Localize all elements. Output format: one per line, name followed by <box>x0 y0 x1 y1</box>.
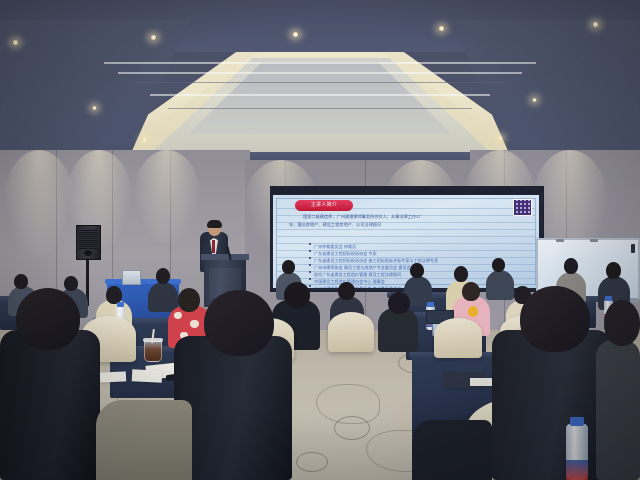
cove-line-3 <box>134 82 506 83</box>
whiteboard-clip <box>556 239 564 242</box>
water-bottle-foreground[interactable] <box>566 424 588 480</box>
duck-graphic <box>468 306 478 317</box>
attendee-head <box>64 276 78 291</box>
attendee-head <box>410 263 424 278</box>
attendee-head <box>14 274 28 289</box>
bullet-dot-icon <box>309 285 311 287</box>
bottle-cap <box>605 296 612 301</box>
downlight <box>438 26 445 31</box>
slide-paragraph-line-1: 国家二级建造师，广州建通律师事务所合伙人，从事法律工作17 <box>303 214 525 220</box>
attendee-legs-foreground <box>96 400 192 480</box>
downlight <box>498 136 503 140</box>
attendee-torso-foreground <box>596 340 640 480</box>
bullet-label: 广州市律师协会人民调解委员会 专业委员会会员 <box>314 286 401 288</box>
coffee-cup[interactable] <box>144 340 162 362</box>
carpet-swirl <box>334 416 370 440</box>
podium-top <box>201 254 249 260</box>
downlight <box>92 106 97 110</box>
attendee-head <box>284 282 310 308</box>
attendee-head <box>564 258 578 274</box>
attendee-head <box>178 288 200 312</box>
cove-line-2 <box>118 72 522 74</box>
carpet-swirl <box>296 452 328 472</box>
attendee-torso-foreground <box>492 330 612 480</box>
bottle-cap <box>570 417 584 426</box>
attendee-head-foreground <box>604 300 640 346</box>
attendee-torso <box>486 270 514 300</box>
cove-line-1 <box>104 62 536 63</box>
attendee-head <box>492 258 505 272</box>
cove-line-5 <box>168 108 472 109</box>
wall-light-pool <box>134 150 200 242</box>
downlight <box>292 32 299 37</box>
laptop[interactable] <box>122 270 141 285</box>
heart-motif <box>190 320 199 328</box>
bottle-cap <box>427 302 434 307</box>
wall-light-pool <box>4 150 74 255</box>
attendee-head <box>454 266 468 282</box>
downlight <box>532 98 537 102</box>
slide-rule <box>277 229 535 230</box>
attendee-head <box>282 260 295 274</box>
attendee-head-foreground <box>520 286 590 352</box>
attendee-torso <box>148 282 178 312</box>
chair[interactable] <box>328 312 374 352</box>
presenter-tie <box>212 240 215 253</box>
paper-handout[interactable] <box>100 371 126 382</box>
chair[interactable] <box>434 318 482 358</box>
attendee-torso <box>378 308 418 352</box>
presenter-hair <box>207 220 222 228</box>
pa-speaker-woofer <box>84 250 92 256</box>
whiteboard-clip <box>590 239 598 242</box>
attendee-head <box>606 262 621 279</box>
attendee-head <box>462 282 480 301</box>
seminar-room-photo: 主讲人简介 国家二级建造师，广州建通律师事务所合伙人，从事法律工作17 年，擅长… <box>0 0 640 480</box>
bottle-cap <box>117 302 124 307</box>
attendee-head <box>338 282 355 300</box>
downlight <box>142 138 147 142</box>
pa-speaker <box>76 225 101 260</box>
pa-speaker-grill <box>79 229 98 249</box>
projection-screen-valance <box>270 186 542 194</box>
attendee-head <box>388 292 410 314</box>
whiteboard-marker[interactable] <box>631 244 635 253</box>
attendee-head <box>156 268 170 284</box>
attendee-head-foreground <box>204 290 274 356</box>
slide-title-banner: 主讲人简介 <box>295 200 353 211</box>
attendee-head-foreground <box>16 288 80 350</box>
cove-line-4 <box>150 94 490 96</box>
attendee-legs-foreground <box>412 420 492 480</box>
slide-paragraph-line-2: 年，擅长房地产、建设工程房地产、公司法律顾问 <box>289 222 527 228</box>
attendee-torso-foreground <box>0 330 100 480</box>
bottle-label <box>566 460 588 480</box>
downlight <box>592 22 599 27</box>
downlight <box>150 35 157 40</box>
paper-handout[interactable] <box>132 369 163 383</box>
downlight <box>12 40 19 45</box>
